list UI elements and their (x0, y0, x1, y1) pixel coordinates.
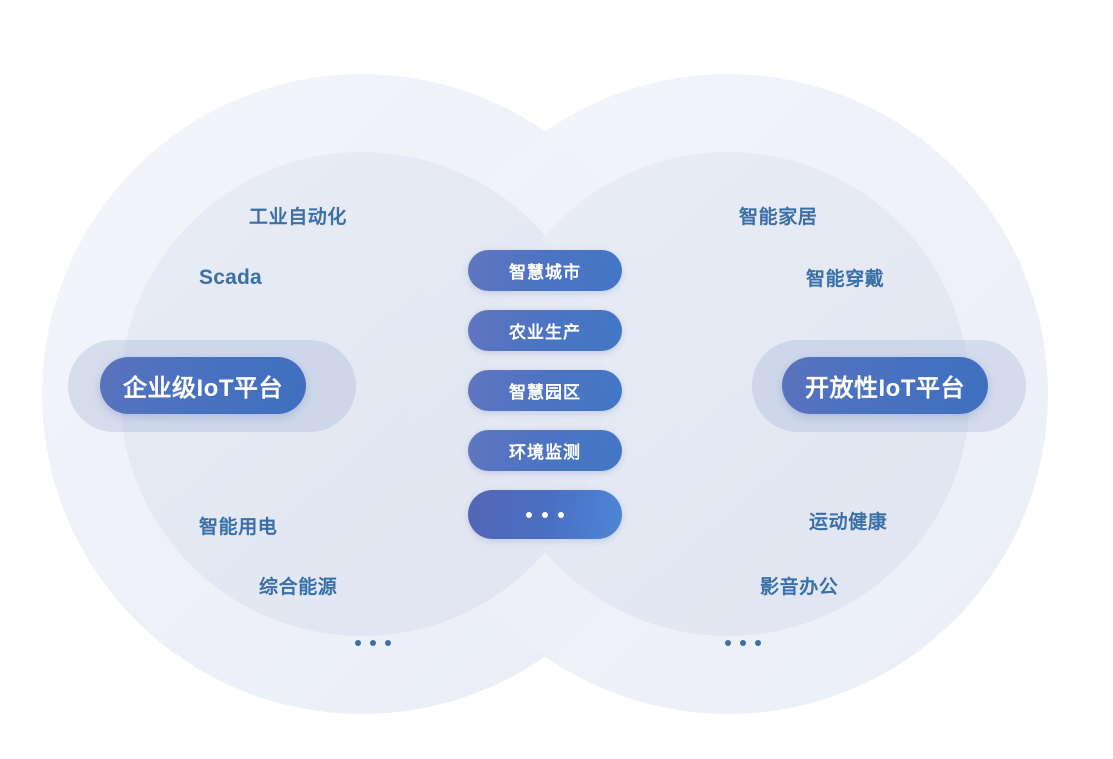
intersection-pill-more[interactable] (468, 490, 622, 539)
intersection-pill-environment-monitoring[interactable]: 环境监测 (468, 430, 622, 471)
right-item-av-office: 影音办公 (760, 578, 838, 597)
intersection-pill-label: 智慧城市 (509, 258, 581, 283)
intersection-pill-agriculture[interactable]: 农业生产 (468, 310, 622, 351)
left-platform-pill[interactable]: 企业级IoT平台 (100, 357, 306, 414)
right-platform-pill[interactable]: 开放性IoT平台 (782, 357, 988, 414)
left-item-scada: Scada (199, 267, 262, 288)
right-platform-label: 开放性IoT平台 (805, 368, 965, 403)
left-item-smart-power: 智能用电 (199, 518, 277, 537)
left-item-integrated-energy: 综合能源 (259, 578, 337, 597)
intersection-ellipsis-icon (526, 512, 564, 518)
intersection-pill-stack: 智慧城市 农业生产 智慧园区 环境监测 (468, 250, 622, 539)
intersection-pill-smart-park[interactable]: 智慧园区 (468, 370, 622, 411)
right-item-sports-health: 运动健康 (809, 513, 887, 532)
left-item-ellipsis-icon (355, 640, 391, 646)
intersection-pill-smart-city[interactable]: 智慧城市 (468, 250, 622, 291)
venn-diagram-canvas: 企业级IoT平台 开放性IoT平台 工业自动化 Scada 智能用电 综合能源 … (0, 0, 1113, 759)
right-item-wearables: 智能穿戴 (806, 270, 884, 289)
right-item-smart-home: 智能家居 (739, 208, 817, 227)
intersection-pill-label: 农业生产 (509, 318, 581, 343)
intersection-pill-label: 智慧园区 (509, 378, 581, 403)
left-item-industrial-automation: 工业自动化 (249, 208, 347, 227)
left-platform-label: 企业级IoT平台 (123, 368, 283, 403)
right-item-ellipsis-icon (725, 640, 761, 646)
intersection-pill-label: 环境监测 (509, 438, 581, 463)
